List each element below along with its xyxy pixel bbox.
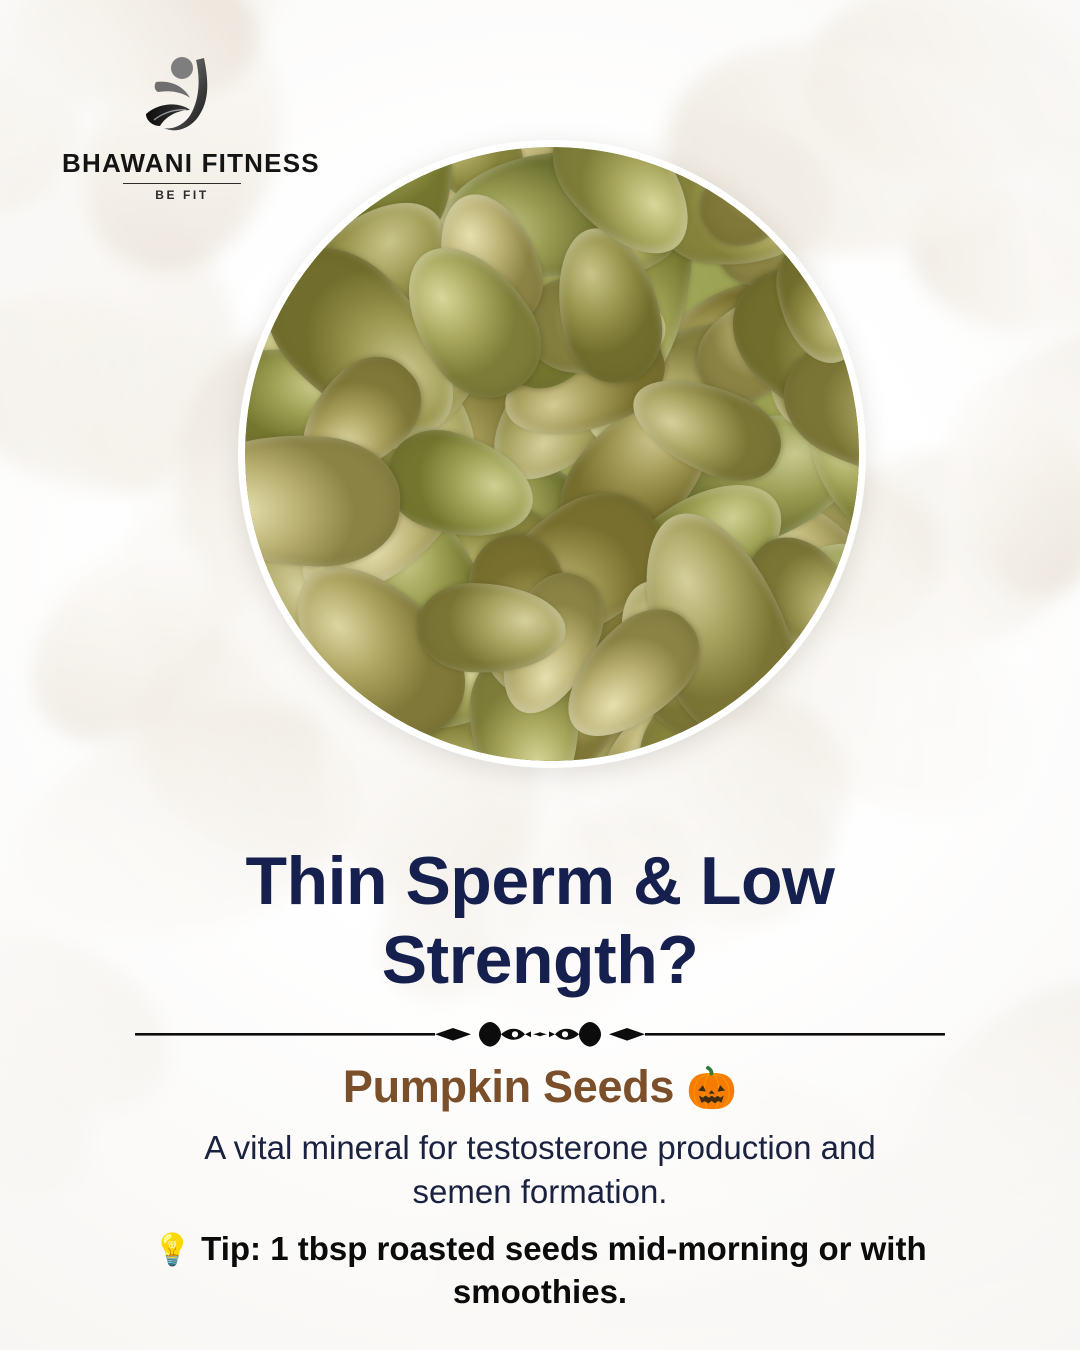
fitness-figure-leaf-logo-icon: [134, 52, 230, 144]
seed-cluster: [245, 147, 859, 761]
section-subtitle: Pumpkin Seeds 🎃: [0, 1062, 1080, 1112]
tip-line-1: 💡 Tip: 1 tbsp roasted seeds mid-morning …: [100, 1228, 980, 1271]
headline-line-2: Strength?: [90, 921, 990, 1000]
jack-o-lantern-emoji: 🎃: [686, 1065, 737, 1111]
tip-line-1-text: Tip: 1 tbsp roasted seeds mid-morning or…: [201, 1230, 926, 1267]
description-line-2: semen formation.: [125, 1170, 955, 1214]
logo-divider-rule: [123, 183, 241, 184]
social-post-poster: BHAWANI FITNESS BE FIT Thin Sperm & Low …: [0, 0, 1080, 1350]
light-bulb-emoji: 💡: [153, 1232, 192, 1267]
tip-text: 💡 Tip: 1 tbsp roasted seeds mid-morning …: [0, 1228, 1080, 1314]
tip-line-2: smoothies.: [100, 1271, 980, 1314]
page-title: Thin Sperm & Low Strength?: [0, 842, 1080, 1000]
ornamental-divider-icon: [135, 1016, 945, 1052]
description-line-1: A vital mineral for testosterone product…: [125, 1126, 955, 1170]
subhead-text: Pumpkin Seeds: [343, 1061, 674, 1112]
pumpkin-seeds-photo: [245, 147, 859, 761]
headline-line-1: Thin Sperm & Low: [90, 842, 990, 921]
ornamental-divider: [135, 1016, 945, 1052]
description-text: A vital mineral for testosterone product…: [0, 1126, 1080, 1214]
hero-image-circle: [238, 140, 866, 768]
